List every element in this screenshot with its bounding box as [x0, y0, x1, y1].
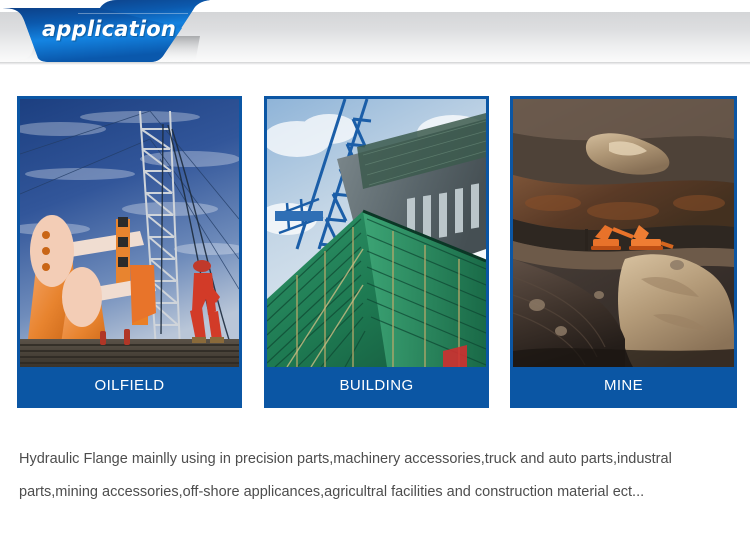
section-header: application — [0, 0, 750, 66]
card-caption-building: BUILDING — [267, 367, 486, 405]
application-card-oilfield[interactable]: OILFIELD — [17, 96, 242, 408]
application-card-mine[interactable]: MINE — [510, 96, 737, 408]
mine-photo — [513, 99, 734, 367]
card-caption-oilfield: OILFIELD — [20, 367, 239, 405]
building-photo — [267, 99, 486, 367]
application-cards: OILFIELD — [0, 96, 750, 408]
application-card-building[interactable]: BUILDING — [264, 96, 489, 408]
application-description: Hydraulic Flange mainlly using in precis… — [19, 443, 724, 509]
application-tab[interactable]: application — [0, 0, 260, 66]
card-caption-mine: MINE — [513, 367, 734, 405]
oilfield-photo — [20, 99, 239, 367]
application-tab-label: application — [42, 16, 192, 42]
